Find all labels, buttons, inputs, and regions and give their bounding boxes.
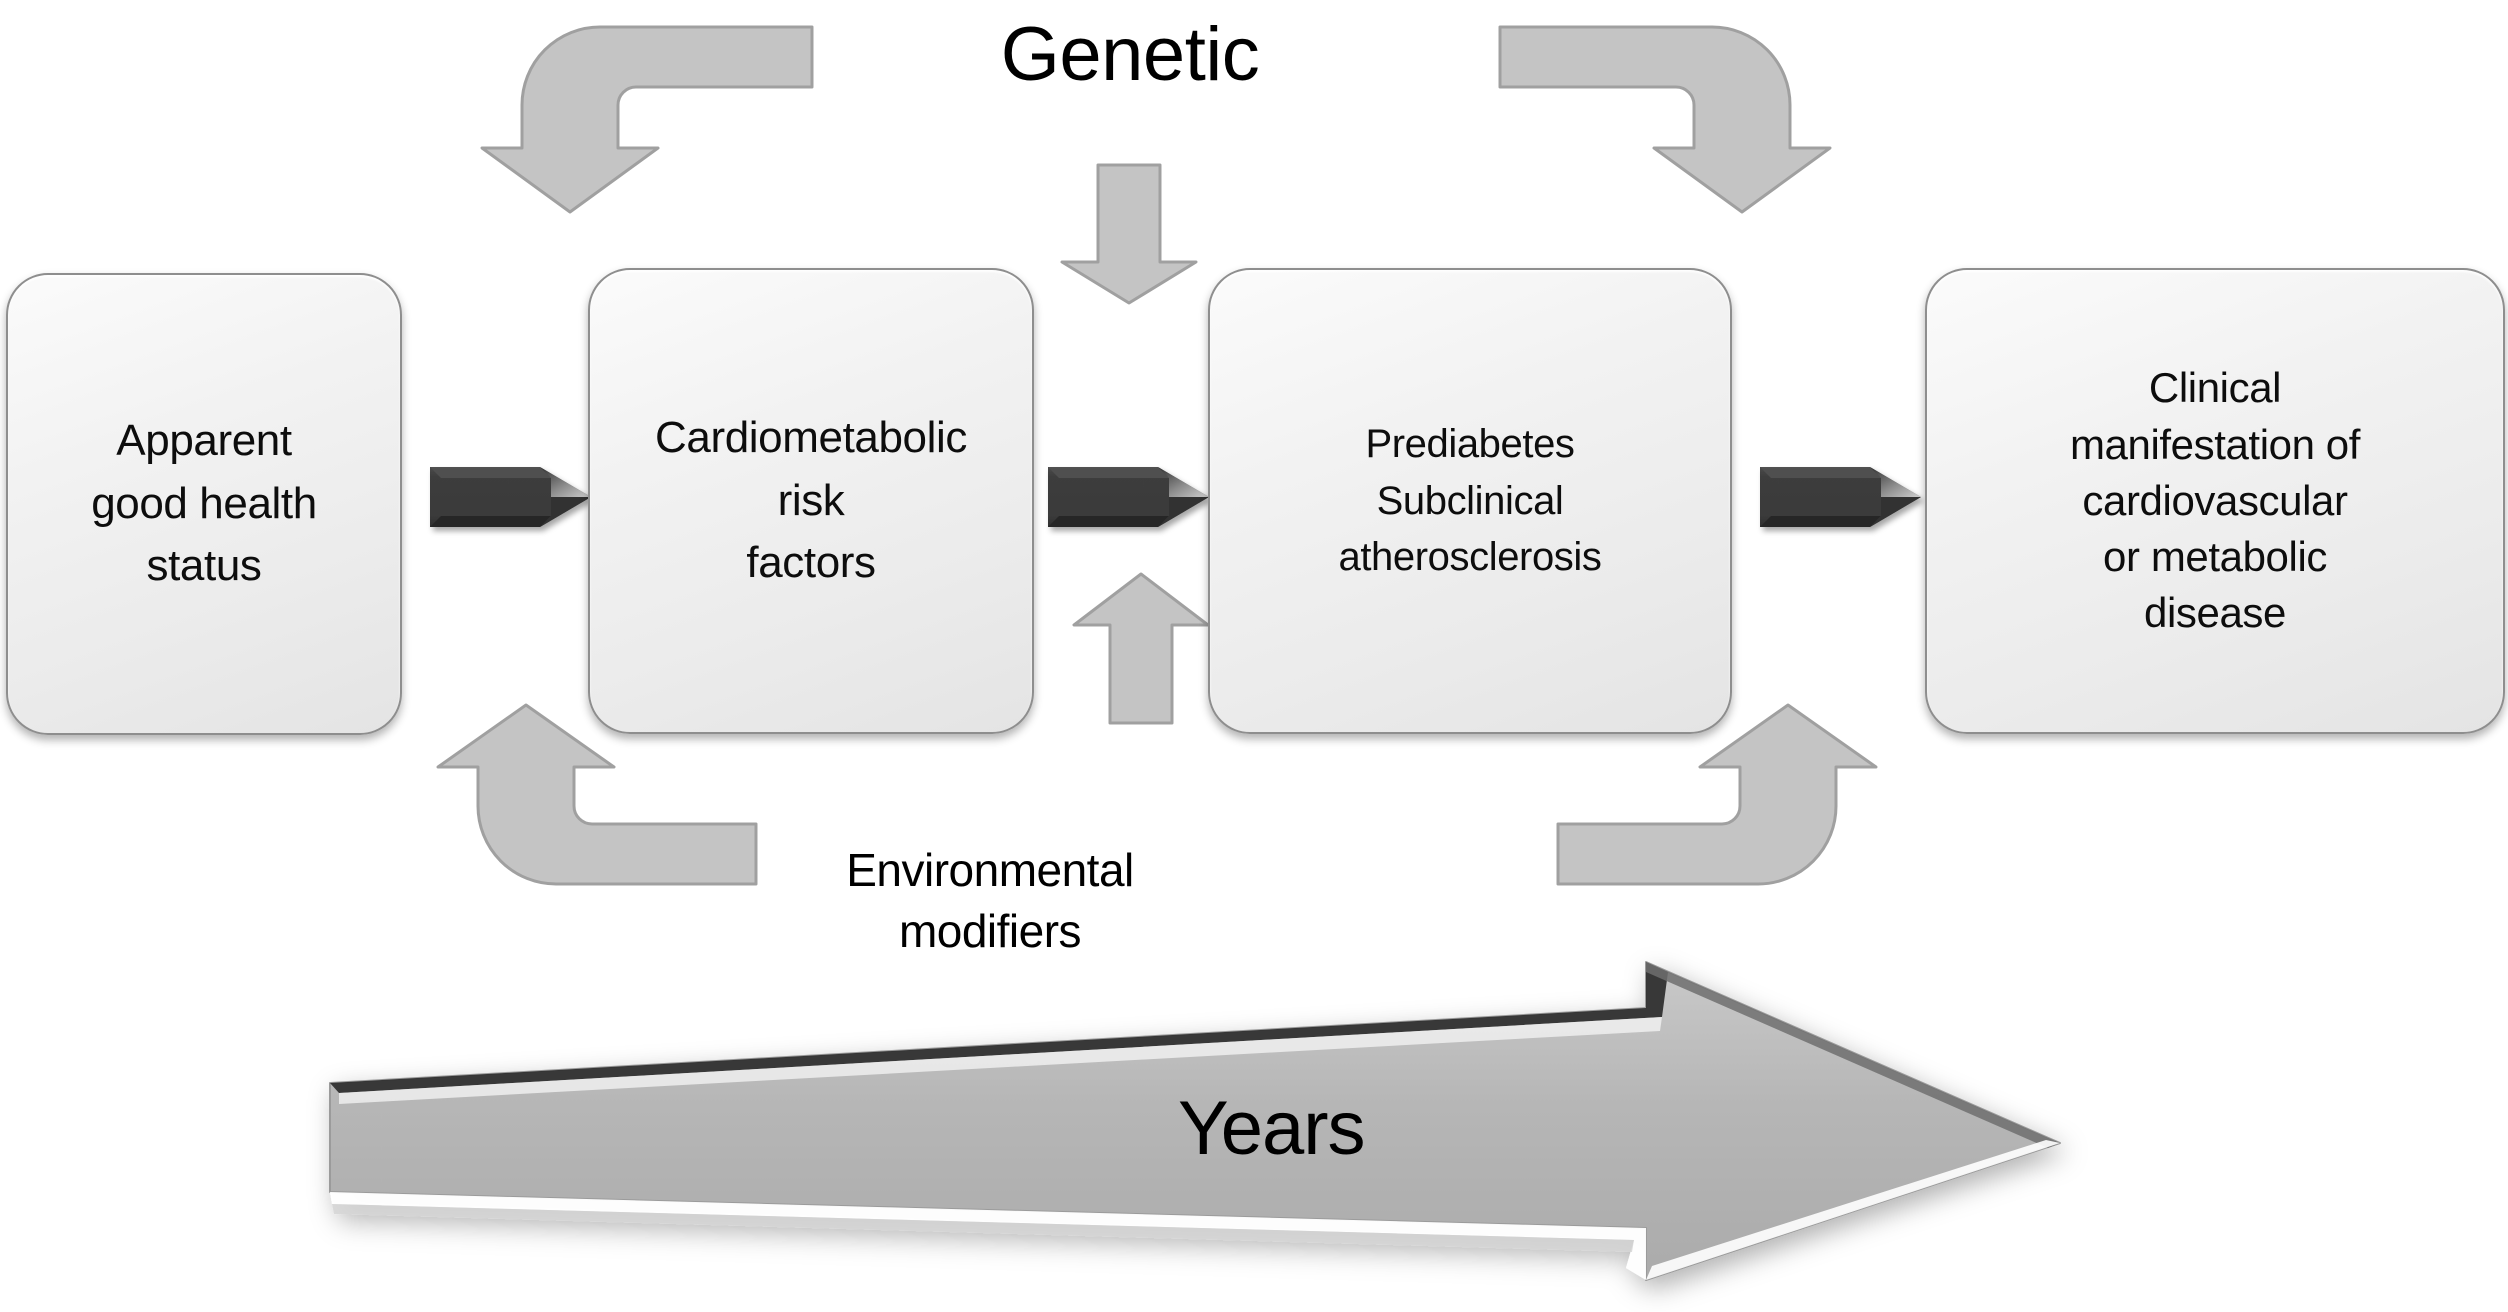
node-prediabetes-subclinical-atherosclerosis-label: Prediabetes Subclinical atherosclerosis [1210,416,1730,586]
progression-arrow-1 [430,467,591,527]
genetic-arrow-center-down [1062,165,1196,303]
node-line: factors [598,532,1024,594]
node-line: good health [16,473,392,535]
genetic-arrow-left [482,27,812,212]
node-apparent-good-health[interactable]: Apparent good health status [6,273,402,735]
node-clinical-manifestation[interactable]: Clinical manifestation of cardiovascular… [1925,268,2505,734]
node-line: Apparent [16,410,392,472]
progression-arrow-3 [1760,467,1921,527]
environmental-modifiers-line: Environmental [760,840,1220,901]
node-line: status [16,535,392,597]
environmental-arrow-center-up [1074,574,1208,723]
genetic-title-text: Genetic [900,4,1360,105]
progression-arrow-2 [1048,467,1209,527]
node-line: Cardiometabolic [598,407,1024,469]
node-line: disease [1935,585,2495,641]
node-line: or metabolic [1935,529,2495,585]
node-line: cardiovascular [1935,473,2495,529]
node-apparent-good-health-label: Apparent good health status [8,410,400,597]
node-clinical-manifestation-label: Clinical manifestation of cardiovascular… [1927,360,2503,641]
node-cardiometabolic-risk-factors-label: Cardiometabolic risk factors [590,407,1032,594]
node-line: Clinical [1935,360,2495,416]
node-line: risk [598,470,1024,532]
figure-canvas: Apparent good health status Cardiometabo… [0,0,2508,1312]
years-timeline-label: Years [1178,1085,1365,1172]
node-prediabetes-subclinical-atherosclerosis[interactable]: Prediabetes Subclinical atherosclerosis [1208,268,1732,734]
node-cardiometabolic-risk-factors[interactable]: Cardiometabolic risk factors [588,268,1034,734]
node-line: manifestation of [1935,417,2495,473]
environmental-modifiers-line: modifiers [760,901,1220,962]
environmental-modifiers-label: Environmental modifiers [760,840,1220,962]
genetic-arrow-right [1500,27,1830,212]
node-line: Subclinical [1218,473,1722,530]
node-line: Prediabetes [1218,416,1722,473]
node-line: atherosclerosis [1218,529,1722,586]
genetic-title: Genetic [900,4,1360,105]
